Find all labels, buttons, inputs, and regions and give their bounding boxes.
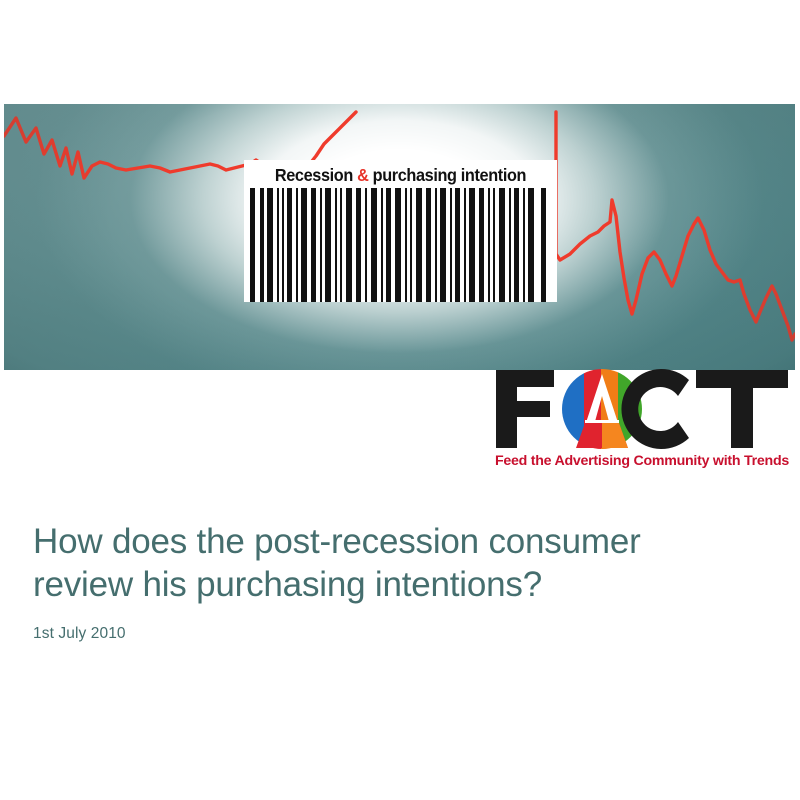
barcode-caption-suffix: purchasing intention — [368, 165, 526, 185]
barcode-graphic: Recession & purchasing intention — [244, 160, 557, 302]
logo-letter-t-shape — [696, 370, 788, 448]
barcode-caption: Recession & purchasing intention — [255, 162, 546, 188]
slide-date: 1st July 2010 — [33, 624, 763, 644]
barcode-bars — [244, 188, 557, 302]
fact-logo: Feed the Advertising Community with Tren… — [492, 368, 792, 476]
fact-logo-tagline: Feed the Advertising Community with Tren… — [492, 452, 792, 470]
trend-line-right — [556, 112, 795, 340]
slide-root: Recession & purchasing intention — [0, 0, 800, 800]
fact-logo-letters — [492, 368, 792, 450]
page-title: How does the post-recession consumer rev… — [33, 520, 763, 606]
barcode-caption-prefix: Recession — [275, 165, 357, 185]
title-block: How does the post-recession consumer rev… — [33, 520, 763, 644]
logo-letter-c-shape — [621, 369, 689, 449]
barcode-caption-ampersand: & — [357, 165, 368, 185]
logo-letter-f-shape — [496, 370, 554, 448]
